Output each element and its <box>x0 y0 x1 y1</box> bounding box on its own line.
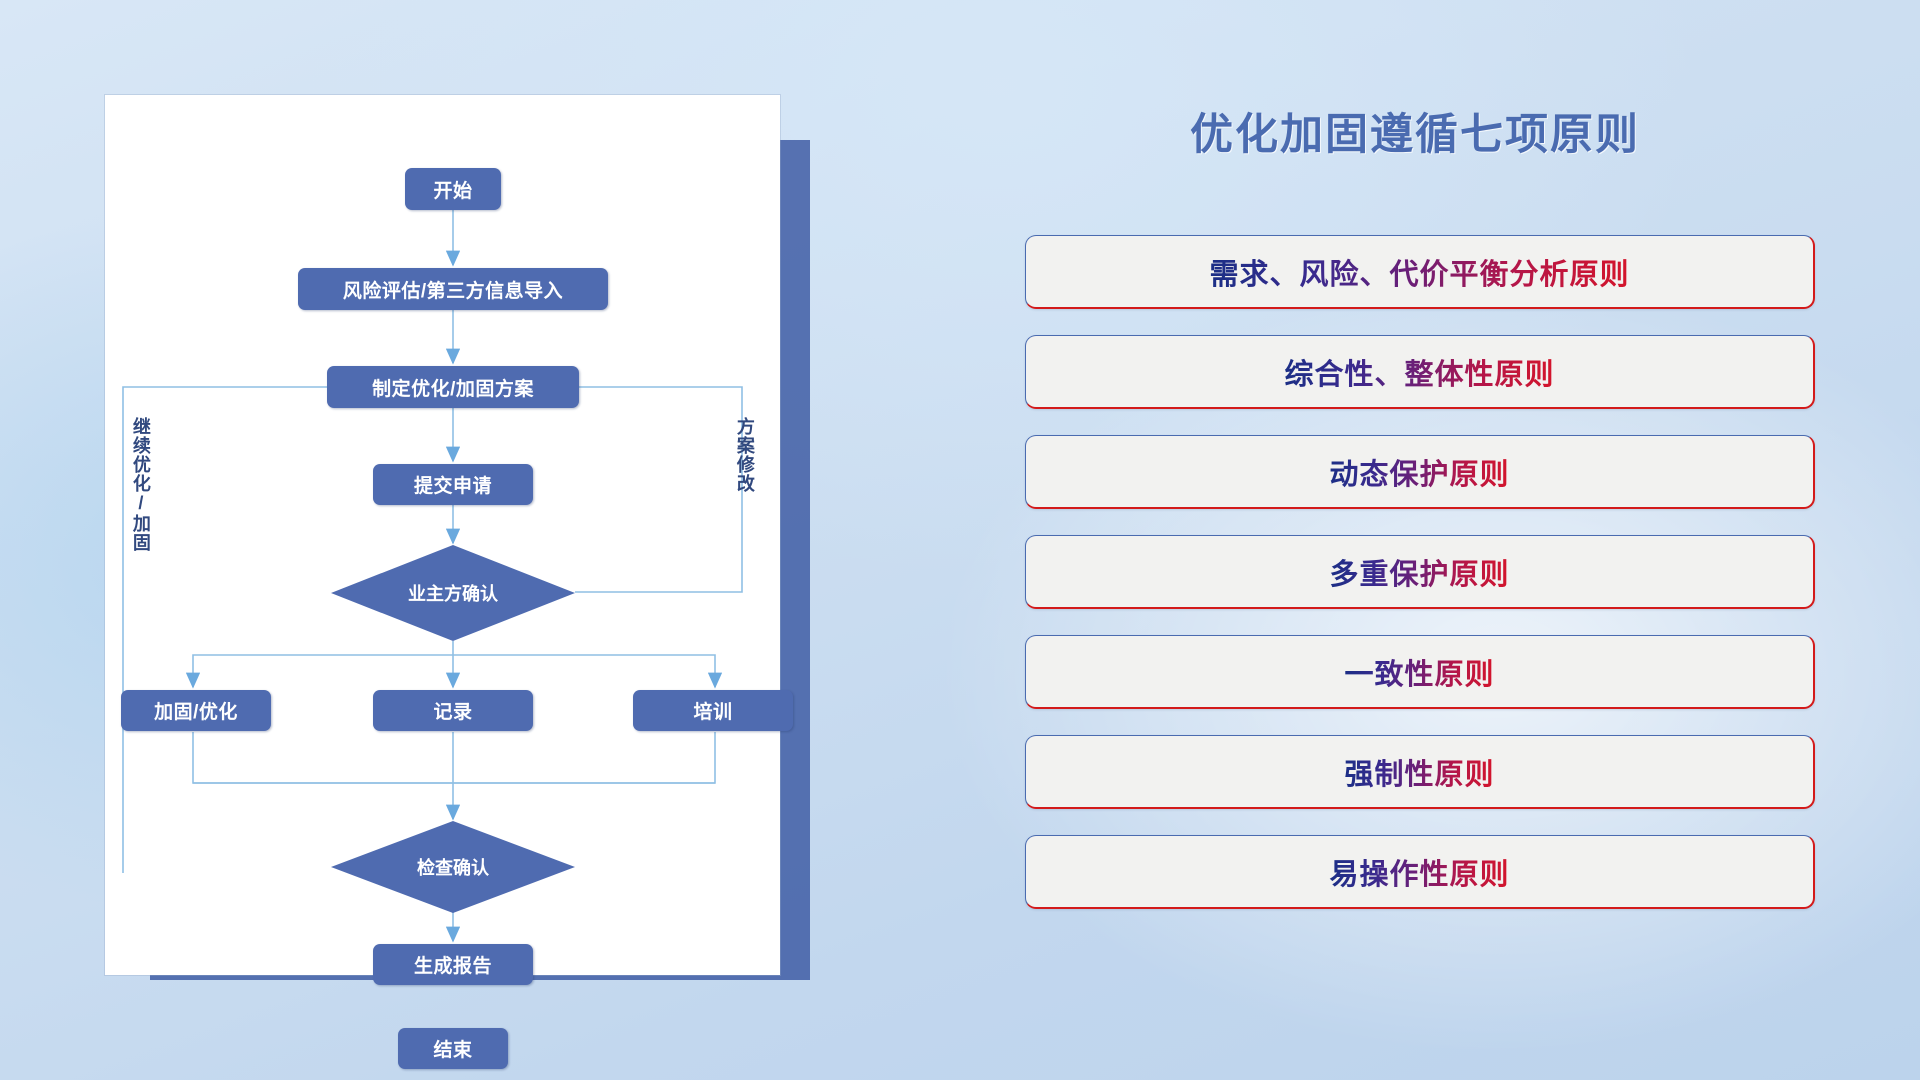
flow-node-label: 培训 <box>693 697 732 724</box>
flow-node-label: 记录 <box>433 697 472 724</box>
flow-node-label: 开始 <box>433 176 472 203</box>
flow-node-owner-confirm[interactable]: 业主方确认 <box>331 545 575 641</box>
flow-node-label: 风险评估/第三方信息导入 <box>343 276 563 303</box>
edge-label-text: 继续优化/加固 <box>131 417 151 552</box>
edge-label-text: 方案修改 <box>735 417 755 493</box>
principle-item[interactable]: 综合性、整体性原则 <box>1025 335 1815 409</box>
principles-panel: 优化加固遵循七项原则 需求、风险、代价平衡分析原则 综合性、整体性原则 动态保护… <box>1000 70 1830 1030</box>
flow-node-generate-report[interactable]: 生成报告 <box>373 944 533 985</box>
flow-node-training[interactable]: 培训 <box>633 690 793 731</box>
flow-node-plan[interactable]: 制定优化/加固方案 <box>327 366 579 408</box>
flow-node-label: 提交申请 <box>414 471 492 498</box>
flow-node-start[interactable]: 开始 <box>405 168 501 210</box>
edge-label-plan-revision: 方案修改 <box>735 417 754 493</box>
principle-item[interactable]: 多重保护原则 <box>1025 535 1815 609</box>
principle-item[interactable]: 需求、风险、代价平衡分析原则 <box>1025 235 1815 309</box>
principle-label: 一致性原则 <box>1344 651 1494 693</box>
principle-label: 综合性、整体性原则 <box>1284 351 1554 393</box>
flow-node-label: 生成报告 <box>414 951 492 978</box>
principle-label: 易操作性原则 <box>1329 851 1509 893</box>
flow-node-check-confirm[interactable]: 检查确认 <box>331 821 575 913</box>
flow-node-record[interactable]: 记录 <box>373 690 533 731</box>
flow-node-label: 业主方确认 <box>408 580 498 606</box>
edge-label-continue-optimize: 继续优化/加固 <box>131 417 150 552</box>
principle-label: 多重保护原则 <box>1329 551 1509 593</box>
principle-label: 需求、风险、代价平衡分析原则 <box>1209 251 1629 293</box>
principle-item[interactable]: 易操作性原则 <box>1025 835 1815 909</box>
flow-node-end[interactable]: 结束 <box>398 1028 508 1069</box>
principles-list: 需求、风险、代价平衡分析原则 综合性、整体性原则 动态保护原则 多重保护原则 一… <box>1025 235 1815 935</box>
flow-node-reinforce[interactable]: 加固/优化 <box>121 690 271 731</box>
principle-label: 动态保护原则 <box>1329 451 1509 493</box>
flow-node-label: 检查确认 <box>417 854 489 880</box>
principle-item[interactable]: 一致性原则 <box>1025 635 1815 709</box>
panel-title: 优化加固遵循七项原则 <box>1000 100 1830 162</box>
principle-item[interactable]: 强制性原则 <box>1025 735 1815 809</box>
flowchart-card: 开始 风险评估/第三方信息导入 制定优化/加固方案 提交申请 业主方确认 加固/… <box>105 95 780 975</box>
slide-canvas: 开始 风险评估/第三方信息导入 制定优化/加固方案 提交申请 业主方确认 加固/… <box>0 0 1920 1080</box>
flow-node-risk-assessment[interactable]: 风险评估/第三方信息导入 <box>298 268 608 310</box>
flow-node-submit[interactable]: 提交申请 <box>373 464 533 505</box>
flow-node-label: 制定优化/加固方案 <box>372 374 534 401</box>
flow-node-label: 加固/优化 <box>154 697 238 724</box>
principle-label: 强制性原则 <box>1344 751 1494 793</box>
flow-node-label: 结束 <box>433 1035 472 1062</box>
principle-item[interactable]: 动态保护原则 <box>1025 435 1815 509</box>
